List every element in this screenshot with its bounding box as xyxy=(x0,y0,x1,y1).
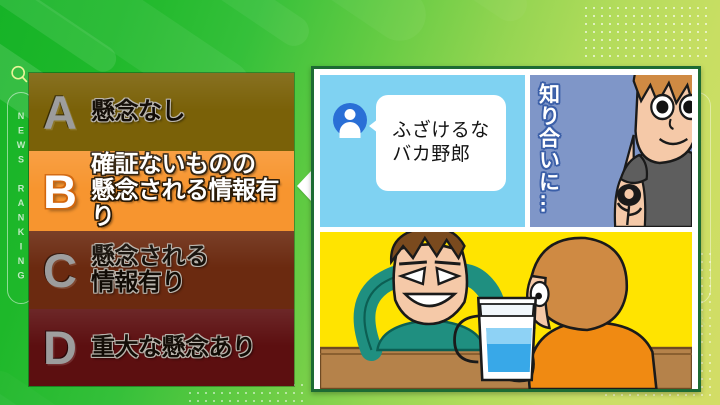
risk-ranking-table: A 懸念なし B 確証ないものの 懸念される情報有り C 懸念される 情報有り … xyxy=(29,73,294,386)
magnifier-icon xyxy=(9,64,31,86)
chat-bubble: ふざけるな バカ野郎 xyxy=(376,95,506,191)
drinking-scene-panel xyxy=(320,232,692,389)
grade-description: 懸念なし xyxy=(91,99,294,125)
comic-top-row: ふざけるな バカ野郎 知り合いに… xyxy=(320,75,692,227)
ranking-row-d[interactable]: D 重大な懸念あり xyxy=(29,309,294,386)
grade-description: 確証ないものの 懸念される情報有り xyxy=(91,152,294,230)
tattooed-man-panel: 知り合いに… xyxy=(530,75,692,227)
grade-letter: A xyxy=(29,89,91,136)
bg-streak xyxy=(216,0,436,51)
grade-description: 懸念される 情報有り xyxy=(91,244,294,296)
chat-message-panel: ふざけるな バカ野郎 xyxy=(320,75,525,227)
ranking-row-a[interactable]: A 懸念なし xyxy=(29,73,294,151)
grade-letter: D xyxy=(29,324,91,371)
chat-message-text: ふざけるな バカ野郎 xyxy=(392,119,490,168)
grade-letter: B xyxy=(29,168,91,215)
broadcast-graphic: NEWS RANKING NEWS RANKING A 懸念なし B 確証ないも… xyxy=(0,0,720,405)
comic-illustration-panel: ふざけるな バカ野郎 知り合いに… xyxy=(311,66,701,392)
rail-label: NEWS RANKING xyxy=(16,111,26,285)
drinking-scene-illustration xyxy=(320,232,692,389)
person-avatar-icon xyxy=(333,103,367,137)
left-character xyxy=(364,232,495,350)
grade-letter: C xyxy=(29,247,91,294)
ranking-row-c[interactable]: C 懸念される 情報有り xyxy=(29,231,294,309)
panel-caption: 知り合いに… xyxy=(536,83,560,215)
grade-description: 重大な懸念あり xyxy=(91,335,294,361)
bg-streak xyxy=(340,0,533,28)
bg-streak xyxy=(107,0,314,52)
active-row-pointer-icon xyxy=(297,170,312,202)
ranking-row-b[interactable]: B 確証ないものの 懸念される情報有り xyxy=(29,151,294,231)
dot-pattern-top-right xyxy=(582,4,712,62)
